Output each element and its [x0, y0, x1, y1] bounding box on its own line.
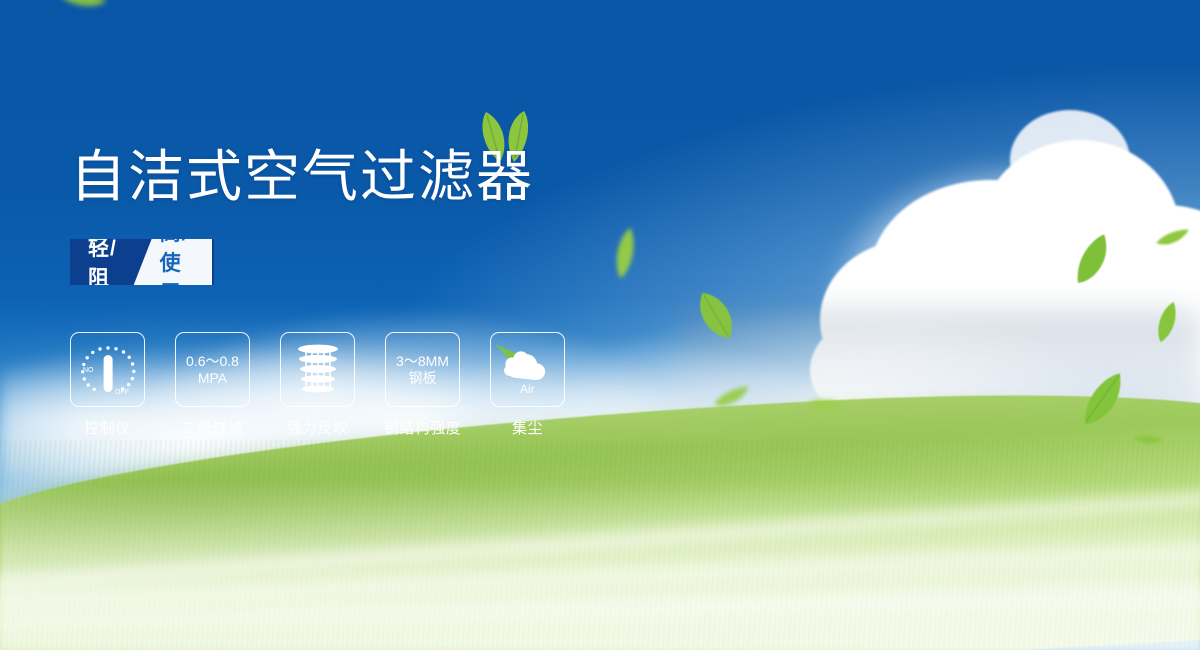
feature-item-steel[interactable]: 3～8MM 钢板 钢结构强度 — [385, 332, 460, 438]
promo-banner: 自洁式空气过滤器 重量轻/阻力小 精度高/使用方便 — [0, 0, 1200, 650]
air-cloud-icon: Air — [499, 342, 557, 398]
feature-caption: 二级过滤 — [181, 417, 243, 438]
pressure-unit-text: MPA — [186, 370, 239, 387]
feature-icon-box: 0.6～0.8 MPA — [175, 332, 250, 407]
steel-thickness-text: 3～8MM — [396, 353, 449, 370]
feature-caption: 集尘 — [512, 417, 543, 438]
feature-icon-box: Air — [490, 332, 565, 407]
feature-item-dust[interactable]: Air 集尘 — [490, 332, 565, 438]
filter-cartridge-icon — [294, 342, 342, 398]
feature-caption: 强力反吹 — [286, 417, 348, 438]
feature-caption: 钢结构强度 — [384, 417, 462, 438]
feature-item-backwash[interactable]: 强力反吹 — [280, 332, 355, 438]
gauge-dial-icon: NO OFF — [77, 341, 139, 399]
steel-plate-icon: 3～8MM 钢板 — [396, 353, 449, 387]
feature-item-controller[interactable]: NO OFF 控制仪 — [70, 332, 145, 438]
page-title: 自洁式空气过滤器 — [70, 146, 534, 208]
feature-item-pressure[interactable]: 0.6～0.8 MPA 二级过滤 — [175, 332, 250, 438]
pressure-value-icon: 0.6～0.8 MPA — [186, 353, 239, 387]
air-label: Air — [520, 382, 535, 396]
feature-icon-box — [280, 332, 355, 407]
subtitle-bar: 重量轻/阻力小 精度高/使用方便 — [70, 239, 214, 285]
steel-material-text: 钢板 — [396, 370, 449, 387]
feature-icon-box: NO OFF — [70, 332, 145, 407]
pressure-range-text: 0.6～0.8 — [186, 353, 239, 370]
feature-icon-box: 3～8MM 钢板 — [385, 332, 460, 407]
gauge-label-no: NO — [83, 367, 94, 374]
gauge-label-off: OFF — [115, 389, 129, 396]
feature-list: NO OFF 控制仪 0.6～0.8 MPA 二级过滤 — [70, 332, 565, 438]
feature-caption: 控制仪 — [84, 417, 131, 438]
subtitle-end-cap — [212, 239, 214, 285]
